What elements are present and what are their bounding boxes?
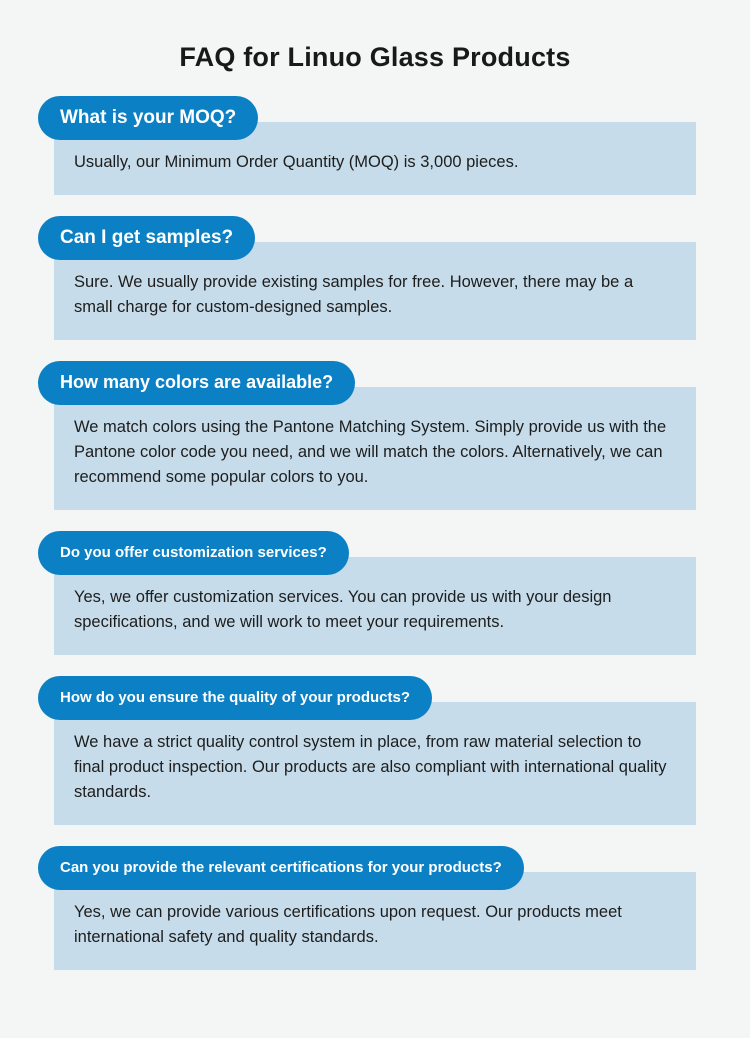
faq-item: Do you offer customization services? Yes… (0, 531, 750, 655)
faq-answer-panel: We match colors using the Pantone Matchi… (54, 387, 696, 510)
faq-item: Can you provide the relevant certificati… (0, 846, 750, 970)
faq-answer-text: We match colors using the Pantone Matchi… (74, 415, 674, 490)
faq-answer-text: Usually, our Minimum Order Quantity (MOQ… (74, 150, 674, 175)
faq-answer-text: Yes, we offer customization services. Yo… (74, 585, 674, 635)
faq-question-pill[interactable]: How many colors are available? (38, 361, 355, 405)
faq-answer-panel: We have a strict quality control system … (54, 702, 696, 825)
faq-question-pill[interactable]: How do you ensure the quality of your pr… (38, 676, 432, 720)
faq-item: Can I get samples? Sure. We usually prov… (0, 216, 750, 340)
faq-page: FAQ for Linuo Glass Products What is you… (0, 0, 750, 1038)
faq-answer-text: Sure. We usually provide existing sample… (74, 270, 674, 320)
faq-list: What is your MOQ? Usually, our Minimum O… (0, 96, 750, 970)
faq-answer-text: Yes, we can provide various certificatio… (74, 900, 674, 950)
faq-question-pill[interactable]: Can I get samples? (38, 216, 255, 260)
faq-answer-text: We have a strict quality control system … (74, 730, 674, 805)
page-title: FAQ for Linuo Glass Products (0, 0, 750, 74)
faq-question-pill[interactable]: What is your MOQ? (38, 96, 258, 140)
faq-question-pill[interactable]: Can you provide the relevant certificati… (38, 846, 524, 890)
faq-item: What is your MOQ? Usually, our Minimum O… (0, 96, 750, 195)
faq-item: How do you ensure the quality of your pr… (0, 676, 750, 825)
faq-item: How many colors are available? We match … (0, 361, 750, 510)
faq-question-pill[interactable]: Do you offer customization services? (38, 531, 349, 575)
